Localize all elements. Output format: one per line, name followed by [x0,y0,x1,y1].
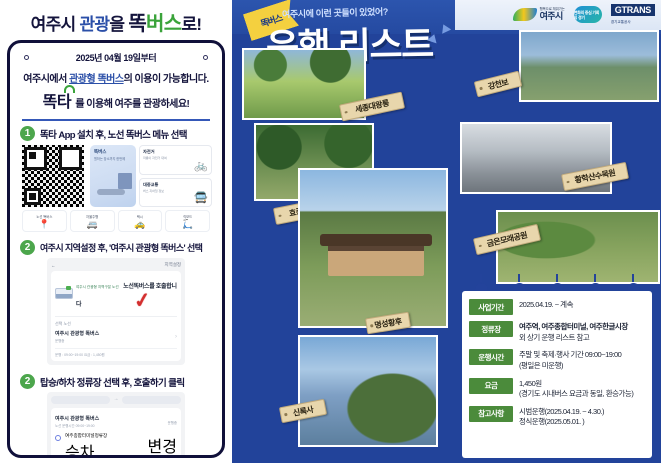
shot3-route-row: 여주시 관광형 똑버스 노선 운행시간 09:00~19:00 운행중 [55,415,177,428]
menu-item-route-bus[interactable]: 노선 똑버스 📍 [22,210,67,232]
dot-left-icon [24,55,29,60]
ttokta-brand: 똑타 [43,88,73,112]
headline-part-6: 로! [181,15,201,34]
headline-part-4: 똑 [128,13,146,35]
info-key: 요금 [469,378,513,394]
bus-icon [55,288,73,299]
photo-silleuksa [298,335,438,447]
wifi-arc-icon [64,85,75,93]
shot2-header-text: 여주시 관광형 지역구분 노선 노선똑버스를 호출합니다 [76,275,177,311]
step-1: 1 똑타 App 설치 후, 노선 똑버스 메뉴 선택 [20,126,214,141]
swoosh-icon [513,8,537,21]
headline-part-5: 버스 [146,13,181,35]
step-2-label: 여주시 지역설정 후, '여주시 관광형 똑버스' 선택 [40,241,202,254]
info-row-period: 사업기간 2025.04.19. ~ 계속 [469,299,645,315]
photo-geumeunmorae [496,210,660,284]
info-row-notes: 참고사항 시범운행(2025.04.19. ~ 4.30.) 정식운행(2025… [469,406,645,428]
ttokta-text: 똑타 [43,94,71,111]
menu-label: 킥보드 [183,214,192,219]
date-bar: 2025년 04월 19일부터 [18,49,214,64]
stop-type: 승차 [65,439,144,458]
app-screenshot-1: 똑버스 원하는 장소까지 한번에 자전거 따릉이 자전거 대여 🚲 대중교통 [90,145,212,207]
app-hero-card: 똑버스 원하는 장소까지 한번에 [90,145,136,207]
info-value-bold: 여주역, 여주종합터미널, 여주한글시장 [519,322,628,333]
headline-part-3: 을 [109,15,128,34]
pin-icon: 📍 [39,220,50,229]
shot2-card: 여주시 관광형 지역구분 노선 노선똑버스를 호출합니다 선택 노선 여주시 관… [51,271,181,361]
service-info-box: 사업기간 2025.04.19. ~ 계속 정류장 여주역, 여주종합터미널, … [462,291,652,458]
menu-item-autonomous[interactable]: 자율주행 🚐 [70,210,115,232]
chevron-right-icon: › [175,334,177,340]
app-screenshot-2: ← 지역설정 여주시 관광형 지역구분 노선 노선똑버스를 호출합니다 선택 노… [47,258,185,365]
shot2-header: 여주시 관광형 지역구분 노선 노선똑버스를 호출합니다 [55,275,177,311]
lead-1c: 의 이용이 가능합니다. [124,74,209,85]
step-3-label: 탑승/하차 정류장 선택 후, 호출하기 클릭 [40,375,185,389]
menu-item-taxi[interactable]: 택시 🚕 [118,210,163,232]
destination-field[interactable] [122,396,181,404]
bike-icon: 🚲 [194,161,208,172]
photo-image [300,170,446,326]
shot3-stop-row[interactable]: 여주종합터미널정류장 승차 변경 [55,433,177,458]
start-date-label: 2025년 04월 19일부터 [76,51,156,64]
shot3-search-bar: → [51,396,181,404]
gtrans-logo: GTRANS 경기교통공사 [611,4,655,25]
van-icon: 🚐 [87,220,98,229]
lead-line-1: 여주시에서 관광형 똑버스의 이용이 가능합니다. [18,70,214,85]
app-tile-title: 대중교통 [143,182,208,188]
menu-label: 노선 똑버스 [36,214,52,219]
photo-image [300,337,436,445]
shot2-section: 선택 노선 여주시 관광형 똑버스 운행중 › 운행 : 09:00~19:00… [55,316,177,357]
yeoju-city-logo: 행복으로 채워가는 여주시 [513,8,565,21]
lead-1b: 관광형 똑버스 [69,74,123,85]
step-3-number: 2 [20,374,35,389]
dot-right-icon [203,55,208,60]
info-row-hours: 운행시간 주말 및 축제·행사 기간 09:00~19:00 (평일은 미운행) [469,349,645,371]
region-setting-label[interactable]: 지역설정 [164,262,181,268]
logo-strip: 행복으로 채워가는 여주시 변화의 중심 기회의 경기 GTRANS 경기교통공… [513,4,655,25]
app-tiles: 자전거 따릉이 자전거 대여 🚲 대중교통 버스 지하철 정보 🚍 [139,145,212,207]
app-hero-sub: 원하는 장소까지 한번에 [94,157,132,161]
info-row-stops: 정류장 여주역, 여주종합터미널, 여주한글시장 외 상기 운행 리스트 참고 [469,321,645,343]
kickboard-icon: 🛴 [182,220,193,229]
photo-gangcheonbo [519,30,659,102]
lead-2-rest: 를 이용해 여주를 관광하세요! [73,99,189,110]
route-status: 운행중 [55,338,99,343]
red-check-icon: ✓ [133,287,153,314]
gyeonggi-logo: 변화의 중심 기회의 경기 [574,6,602,23]
poster-root: 여주시 관광을 똑버스로! 2025년 04월 19일부터 여주시에서 관광형 … [0,0,661,463]
photo-image [521,32,657,100]
divider [22,119,210,121]
status-badge: 운행중 [168,420,177,425]
route-option-row[interactable]: 여주시 관광형 똑버스 운행중 › [55,330,177,343]
shot2-section-caption: 선택 노선 [55,321,177,327]
app-tile[interactable]: 대중교통 버스 지하철 정보 🚍 [139,178,212,208]
info-value: 2025.04.19. ~ 계속 [519,299,573,311]
qr-code-icon[interactable] [22,145,84,207]
route-name: 여주시 관광형 똑버스 [55,415,99,422]
menu-item-kickboard[interactable]: 킥보드 🛴 [165,210,210,232]
info-key: 운행시간 [469,349,513,365]
change-stop-button[interactable]: 변경 [148,433,177,457]
info-value: 1,450원 (경기도 시내버스 요금과 동일, 환승가능) [519,378,633,400]
menu-label: 택시 [137,214,143,219]
bus-icon: 🚍 [194,193,208,204]
yeoju-logo-name: 여주시 [540,12,565,21]
app-hero-bar [97,189,125,195]
back-icon[interactable]: ← [51,263,56,268]
info-key: 사업기간 [469,299,513,315]
origin-field[interactable] [51,396,110,404]
app-screenshot-3: → 여주시 관광형 똑버스 노선 운행시간 09:00~19:00 운행중 [47,392,185,458]
photo-myeongseong [298,168,448,328]
step-1-number: 1 [20,126,35,141]
shot3-card: 여주시 관광형 똑버스 노선 운행시간 09:00~19:00 운행중 여주종합… [51,408,181,458]
info-value-group: 여주역, 여주종합터미널, 여주한글시장 외 상기 운행 리스트 참고 [519,321,628,343]
gyeonggi-badge: 변화의 중심 기회의 경기 [574,6,602,23]
phone-card: 2025년 04월 19일부터 여주시에서 관광형 똑버스의 이용이 가능합니다… [7,40,225,458]
info-value: 외 상기 운행 리스트 참고 [519,333,628,344]
app-tile-title: 자전거 [143,149,208,155]
stop-dot-icon [55,435,61,441]
lead-line-2: 똑타 를 이용해 여주를 관광하세요! [18,88,214,112]
app-bottom-menu: 노선 똑버스 📍 자율주행 🚐 택시 🚕 킥보드 🛴 [18,210,214,232]
route-name: 여주시 관광형 똑버스 [55,330,99,337]
app-hero-building [118,173,132,189]
photo-tag-gangcheonbo: 강천보 [474,71,523,98]
route-hours: 노선 운행시간 09:00~19:00 [55,423,99,428]
shot2-header-line1: 여주시 관광형 지역구분 노선 [76,285,119,289]
shot2-topbar: ← 지역설정 [51,262,181,268]
photo-image [498,212,658,282]
step-2: 2 여주시 지역설정 후, '여주시 관광형 똑버스' 선택 [20,240,214,255]
info-value: 주말 및 축제·행사 기간 09:00~19:00 (평일은 미운행) [519,349,621,371]
page-title: 여주시 관광을 똑버스로! [6,4,226,40]
route-footer: 운행 : 09:00~19:00 요금 : 1,450원 [55,348,177,357]
headline-part-1: 여주시 [31,15,80,34]
info-key: 참고사항 [469,406,513,422]
headline-part-2: 관광 [79,15,109,34]
app-hero-title: 똑버스 [94,149,132,155]
step-2-number: 2 [20,240,35,255]
gtrans-wordmark: GTRANS [611,4,655,16]
lead-1a: 여주시에서 [23,74,69,85]
step-1-label: 똑타 App 설치 후, 노선 똑버스 메뉴 선택 [40,127,187,141]
taxi-icon: 🚕 [134,220,145,229]
left-info-panel: 여주시 관광을 똑버스로! 2025년 04월 19일부터 여주시에서 관광형 … [0,0,232,463]
step-3: 2 탑승/하차 정류장 선택 후, 호출하기 클릭 [20,374,214,389]
info-key: 정류장 [469,321,513,337]
app-tile[interactable]: 자전거 따릉이 자전거 대여 🚲 [139,145,212,175]
menu-label: 자율주행 [86,214,98,219]
right-route-list-panel: 행복으로 채워가는 여주시 변화의 중심 기회의 경기 GTRANS 경기교통공… [232,0,661,463]
info-value: 시범운행(2025.04.19. ~ 4.30.) 정식운행(2025.05.0… [519,406,604,428]
swap-icon[interactable]: → [113,396,119,404]
gtrans-sub: 경기교통공사 [611,20,631,25]
info-row-fare: 요금 1,450원 (경기도 시내버스 요금과 동일, 환승가능) [469,378,645,400]
step-1-body: 똑버스 원하는 장소까지 한번에 자전거 따릉이 자전거 대여 🚲 대중교통 [18,143,214,207]
